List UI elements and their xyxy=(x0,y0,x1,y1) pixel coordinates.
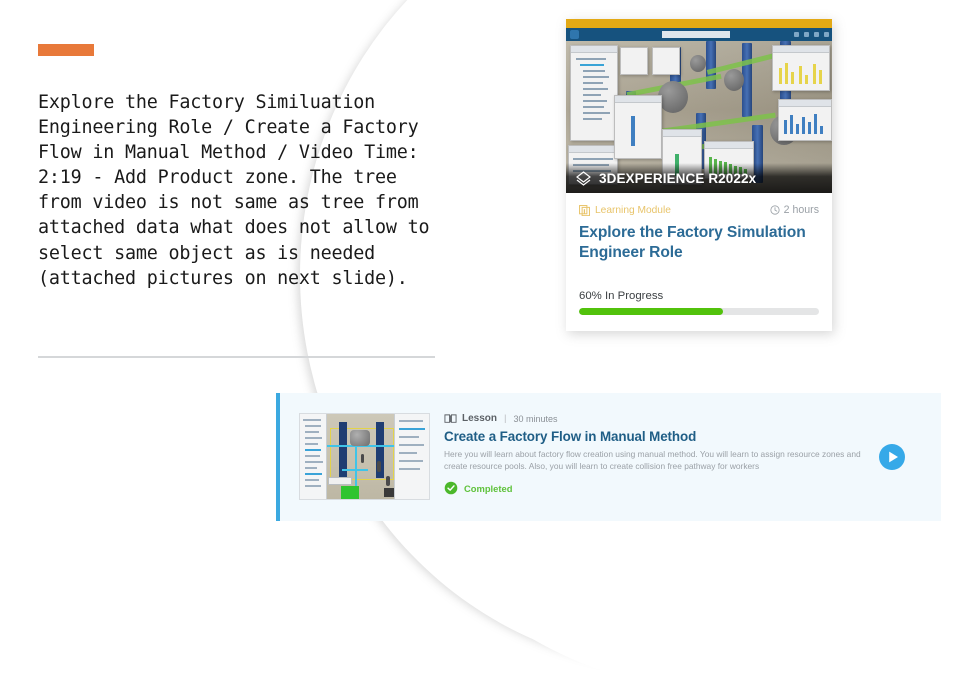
accent-bar xyxy=(38,44,94,56)
lesson-meta-separator: | xyxy=(504,413,507,424)
lesson-title[interactable]: Create a Factory Flow in Manual Method xyxy=(444,429,879,444)
check-circle-icon xyxy=(444,481,458,495)
thumbnail-app-toolbar xyxy=(566,28,832,41)
module-duration: 2 hours xyxy=(770,204,819,216)
brand-label: 3DEXPERIENCE R2022x xyxy=(599,171,756,186)
scene-machine xyxy=(690,55,706,72)
lesson-worker xyxy=(377,461,381,472)
scene-tool-palette xyxy=(620,47,648,75)
content-divider xyxy=(38,356,435,358)
tree-item xyxy=(583,88,608,90)
module-title[interactable]: Explore the Factory Simulation Engineer … xyxy=(579,223,819,262)
clock-icon xyxy=(770,205,780,215)
learning-module-icon xyxy=(579,205,590,216)
tree-item xyxy=(576,58,606,60)
book-icon xyxy=(444,413,457,424)
lesson-status-label: Completed xyxy=(464,483,512,494)
lesson-status: Completed xyxy=(444,481,879,495)
tree-item xyxy=(583,70,605,72)
lesson-thumbnail xyxy=(299,413,430,500)
scene-machine xyxy=(724,69,744,91)
scene-chart-window xyxy=(772,45,830,91)
thumbnail-toolbar-dot xyxy=(804,32,809,37)
tree-item xyxy=(583,106,604,108)
tree-item xyxy=(583,82,603,84)
lesson-type-label: Lesson xyxy=(462,413,497,424)
panel-titlebar xyxy=(569,146,617,153)
lesson-tree-panel xyxy=(300,414,327,499)
scene-tree-panel xyxy=(570,45,618,141)
thumbnail-toolbar-dot xyxy=(794,32,799,37)
thumbnail-search-field xyxy=(662,31,730,38)
thumbnail-gold-bar xyxy=(566,19,832,28)
lesson-worker xyxy=(386,476,390,486)
tree-item xyxy=(583,100,607,102)
slide-text-block: Explore the Factory Similuation Engineer… xyxy=(38,44,438,291)
tree-item xyxy=(583,118,602,120)
module-meta-row: Learning Module 2 hours xyxy=(579,204,819,216)
panel-titlebar xyxy=(705,142,753,149)
play-circle-icon[interactable] xyxy=(879,444,905,470)
bar-chart xyxy=(781,112,829,134)
module-type-label: Learning Module xyxy=(595,205,671,216)
lesson-duration-label: 30 minutes xyxy=(514,414,558,424)
panel-titlebar xyxy=(663,130,701,137)
scene-dialog xyxy=(614,95,662,159)
thumbnail-toolbar-dot xyxy=(814,32,819,37)
lesson-worker xyxy=(361,454,364,463)
thumbnail-brand-overlay: 3DEXPERIENCE R2022x xyxy=(566,163,832,193)
bar-chart xyxy=(775,60,827,84)
tree-item-selected xyxy=(580,64,604,66)
progress-bar xyxy=(579,308,819,315)
list-row xyxy=(573,158,613,160)
lesson-content: Lesson | 30 minutes Create a Factory Flo… xyxy=(444,393,879,495)
panel-titlebar xyxy=(571,46,617,53)
module-type: Learning Module xyxy=(579,205,671,216)
module-card-body: Learning Module 2 hours Explore the Fact… xyxy=(566,193,832,331)
scene-chart-window xyxy=(778,99,832,141)
lesson-description: Here you will learn about factory flow c… xyxy=(444,449,864,472)
panel-titlebar xyxy=(615,96,661,103)
slide-body-text: Explore the Factory Similuation Engineer… xyxy=(38,90,438,291)
lesson-card[interactable]: Lesson | 30 minutes Create a Factory Flo… xyxy=(276,393,941,521)
lesson-machine xyxy=(350,430,370,446)
tree-item xyxy=(583,94,601,96)
panel-titlebar xyxy=(779,100,831,107)
lesson-tooltip xyxy=(328,477,352,485)
module-duration-label: 2 hours xyxy=(784,204,819,216)
lesson-resource-zone xyxy=(341,486,359,499)
panel-titlebar xyxy=(773,46,829,53)
tree-item xyxy=(583,112,610,114)
tree-item xyxy=(583,76,609,78)
scene-tool-palette xyxy=(652,47,680,75)
module-thumbnail: 3DEXPERIENCE R2022x xyxy=(566,19,832,193)
dialog-bar xyxy=(631,116,635,146)
progress-bar-fill xyxy=(579,308,723,315)
thumbnail-toolbar-dot xyxy=(824,32,829,37)
learning-module-card[interactable]: 3DEXPERIENCE R2022x Learning Module 2 ho… xyxy=(566,19,832,331)
lesson-path-line xyxy=(342,469,368,471)
scene-machine xyxy=(658,81,688,113)
scene-column xyxy=(706,41,716,89)
progress-label: 60% In Progress xyxy=(579,290,819,302)
compass-diamond-icon xyxy=(575,170,592,187)
thumbnail-app-logo-icon xyxy=(570,30,579,39)
lesson-properties-panel xyxy=(394,414,429,499)
lesson-meta-row: Lesson | 30 minutes xyxy=(444,413,879,424)
